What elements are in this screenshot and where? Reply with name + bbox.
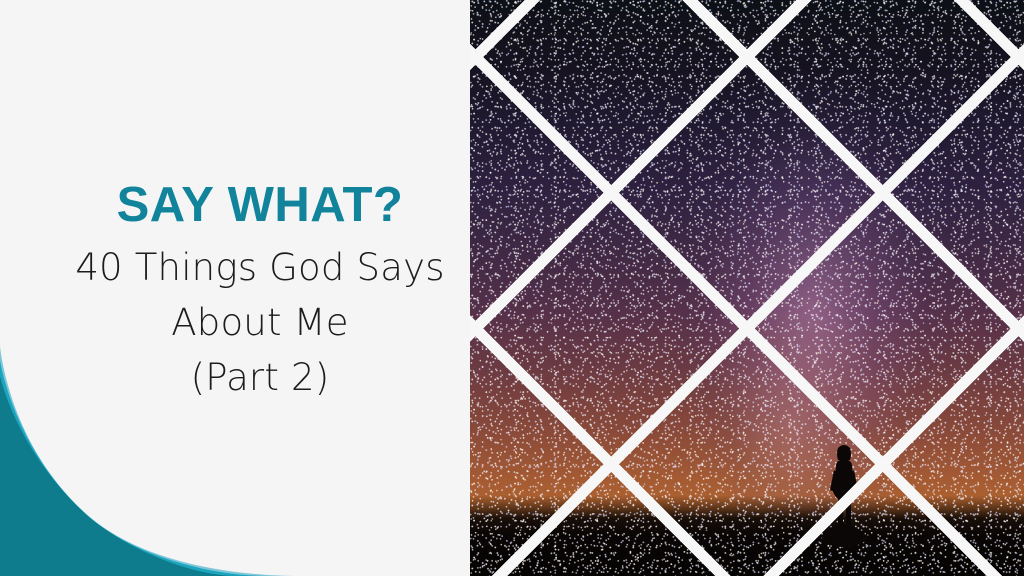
subtitle-line-1: 40 Things God Says (0, 240, 520, 295)
title-text-block: SAY WHAT? 40 Things God Says About Me (P… (0, 0, 520, 576)
subtitle-line-2: About Me (0, 295, 520, 350)
page-subtitle: 40 Things God Says About Me (Part 2) (0, 240, 520, 405)
subtitle-line-3: (Part 2) (0, 350, 520, 405)
slide-canvas: SAY WHAT? 40 Things God Says About Me (P… (0, 0, 1024, 576)
person-silhouette-icon (814, 440, 874, 550)
night-sky-collage (470, 0, 1024, 576)
star-field-dense (470, 0, 1024, 576)
page-title: SAY WHAT? (0, 181, 520, 230)
